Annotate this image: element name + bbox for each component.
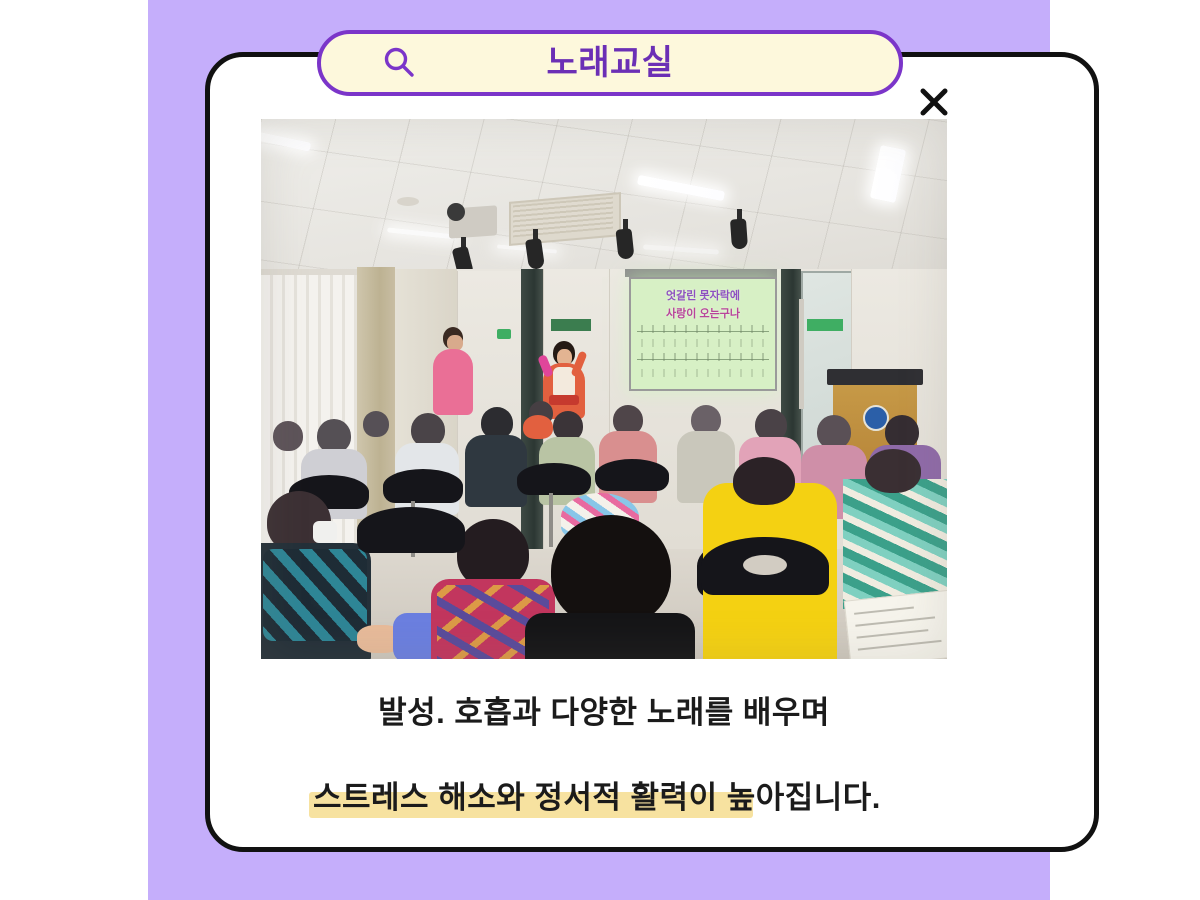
class-photo: 엇갈린 못자락에 사랑이 오는구나 [261, 119, 947, 659]
caption-line-2: 스트레스 해소와 정서적 활력이 높아집니다. [313, 780, 881, 815]
search-icon[interactable] [381, 45, 417, 81]
close-icon[interactable] [914, 82, 954, 122]
caption-line-2-wrap: 스트레스 해소와 정서적 활력이 높아집니다. [261, 772, 1021, 817]
content-card: 엇갈린 못자락에 사랑이 오는구나 [205, 52, 1099, 852]
caption-line-1: 발성. 호흡과 다양한 노래를 배우며 [261, 687, 947, 732]
photo-vignette [261, 119, 947, 659]
search-bar[interactable]: 노래교실 [317, 30, 903, 96]
page-root: 엇갈린 못자락에 사랑이 오는구나 [0, 0, 1200, 900]
caption-block: 발성. 호흡과 다양한 노래를 배우며 스트레스 해소와 정서적 활력이 높아집… [261, 687, 1047, 817]
